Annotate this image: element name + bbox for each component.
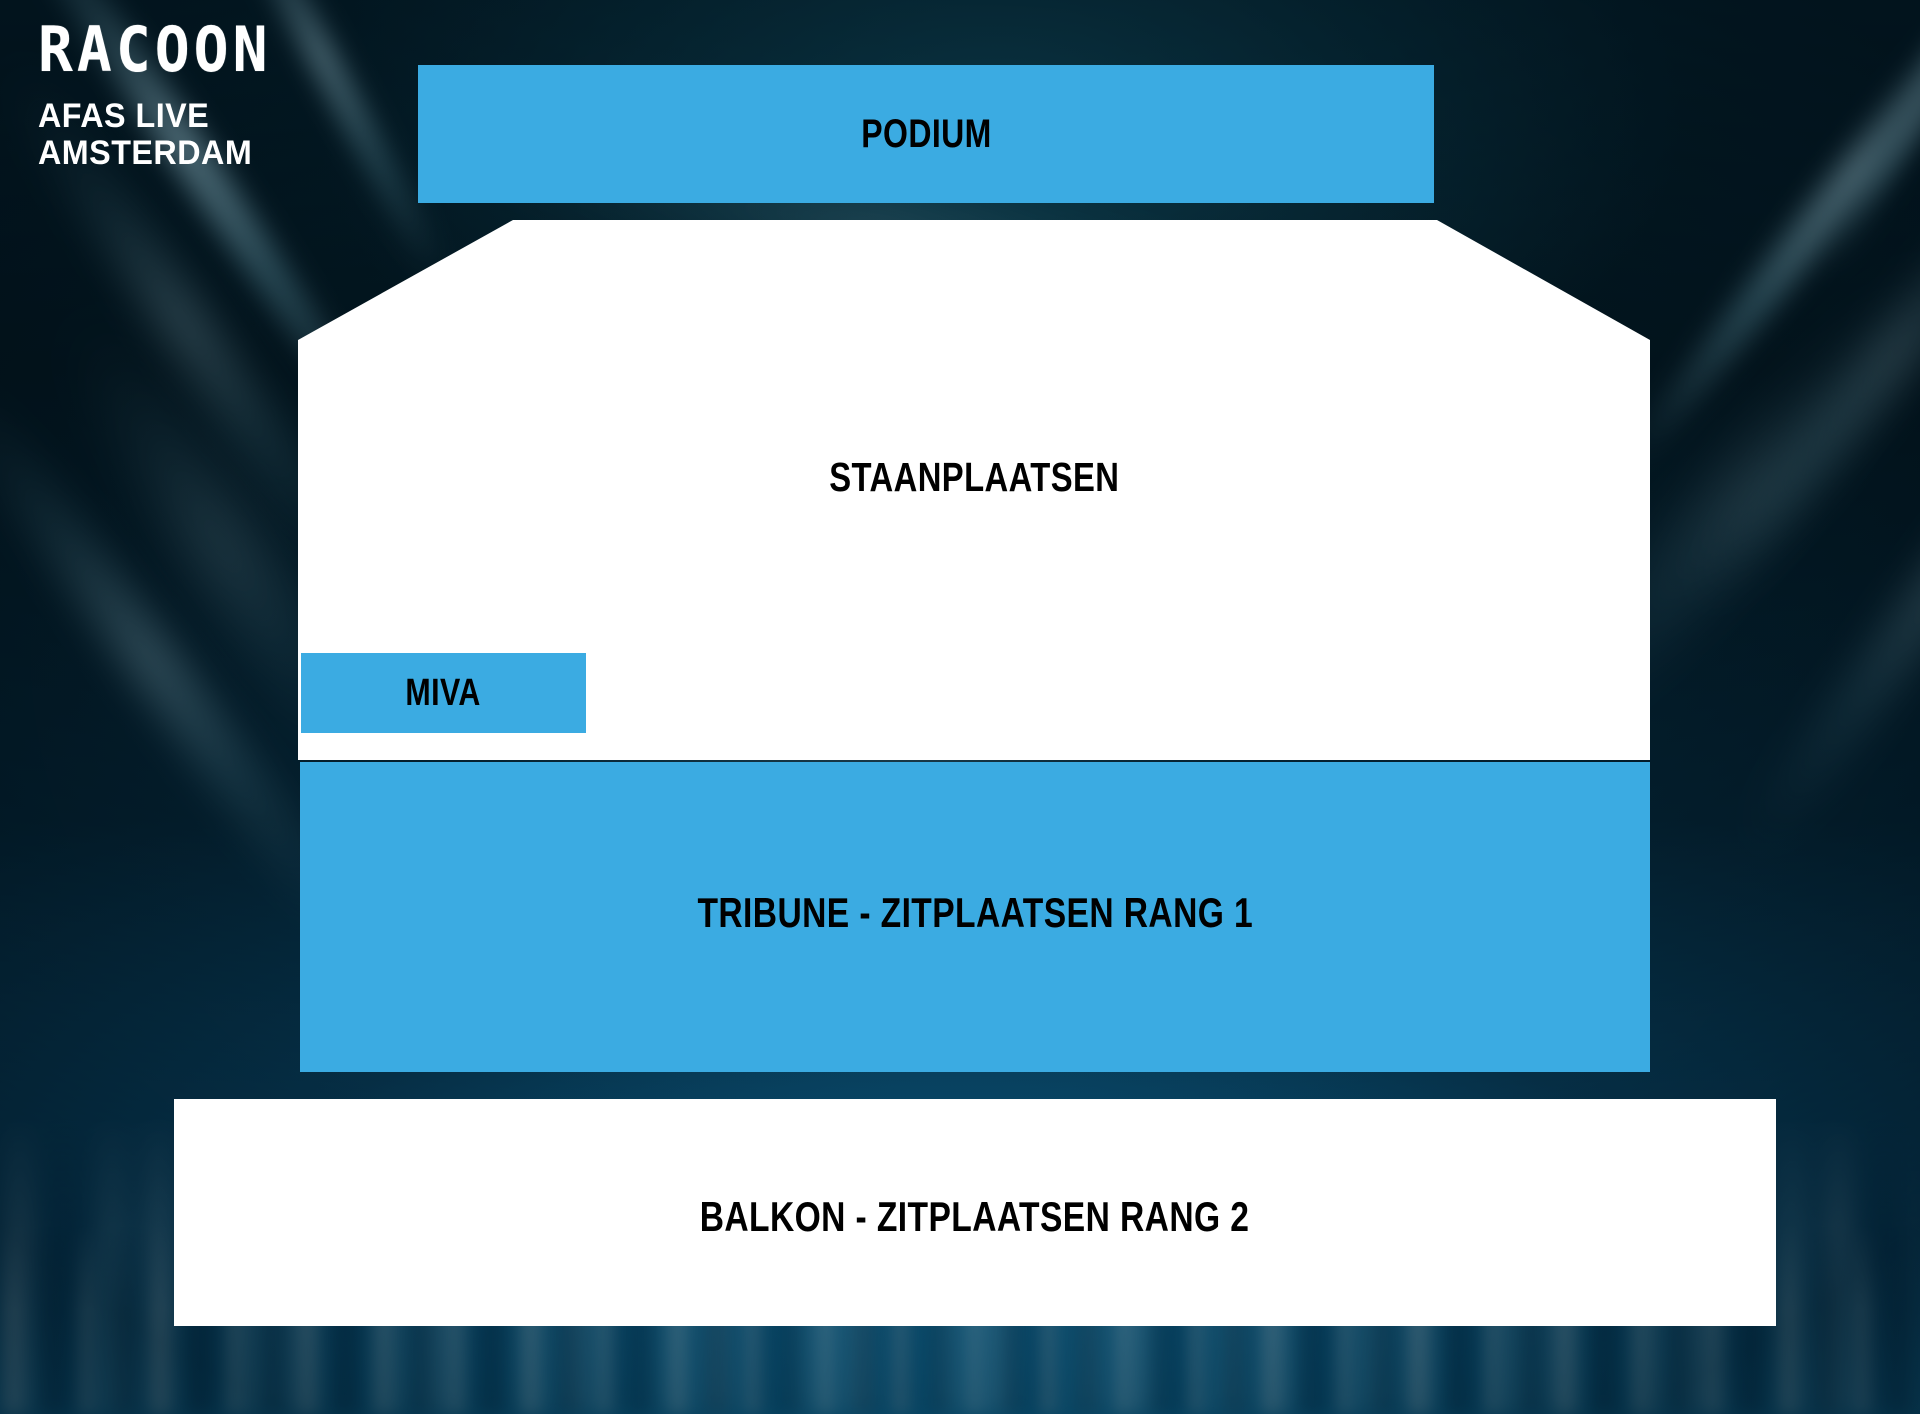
section-label-tribune: TRIBUNE - ZITPLAATSEN RANG 1 <box>697 892 1253 934</box>
section-balkon-rang-2[interactable]: BALKON - ZITPLAATSEN RANG 2 <box>174 1099 1776 1326</box>
section-tribune-rang-1[interactable]: TRIBUNE - ZITPLAATSEN RANG 1 <box>300 762 1650 1072</box>
venue-logo: RACOON AFAS LIVE AMSTERDAM <box>38 18 272 171</box>
venue-seating-map: RACOON AFAS LIVE AMSTERDAM STAANPLAATSEN… <box>0 0 1920 1414</box>
section-label-staanplaatsen: STAANPLAATSEN <box>829 457 1119 498</box>
artist-name: RACOON <box>38 18 272 81</box>
section-label-miva: MIVA <box>406 674 481 712</box>
venue-name: AFAS LIVE <box>38 98 260 135</box>
section-miva[interactable]: MIVA <box>301 653 586 733</box>
section-label-balkon: BALKON - ZITPLAATSEN RANG 2 <box>700 1196 1250 1238</box>
section-label-podium: PODIUM <box>861 114 991 154</box>
venue-city: AMSTERDAM <box>38 135 260 172</box>
section-podium[interactable]: PODIUM <box>418 65 1434 203</box>
